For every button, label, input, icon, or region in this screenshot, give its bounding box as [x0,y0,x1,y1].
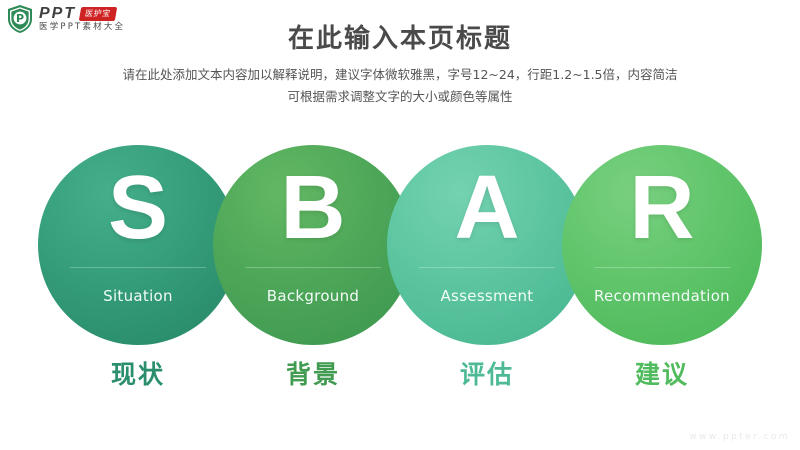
sbar-word-assessment: Assessment [441,287,534,305]
sbar-diagram: S Situation B Background A Assessment R … [0,145,800,347]
caption-assessment: 评估 [387,355,587,391]
sbar-letter-b: B [281,163,346,253]
circle-divider [245,267,381,268]
circle-divider [419,267,555,268]
circle-divider [70,267,206,268]
sbar-circle-assessment[interactable]: A Assessment [387,145,587,345]
sbar-circle-recommendation[interactable]: R Recommendation [562,145,762,345]
sbar-circle-background[interactable]: B Background [213,145,413,345]
sbar-letter-a: A [455,163,520,253]
sbar-word-recommendation: Recommendation [594,287,730,305]
caption-recommendation: 建议 [562,355,762,391]
sbar-letter-s: S [108,163,168,253]
sbar-word-situation: Situation [103,287,173,305]
circle-divider [594,267,730,268]
sbar-captions: 现状 背景 评估 建议 [0,355,800,395]
sbar-letter-r: R [630,163,695,253]
subtitle-line-1: 请在此处添加文本内容加以解释说明，建议字体微软雅黑，字号12~24，行距1.2~… [0,64,800,86]
subtitle-line-2: 可根据需求调整文字的大小或颜色等属性 [0,86,800,108]
caption-background: 背景 [213,355,413,391]
sbar-word-background: Background [267,287,360,305]
sbar-circle-situation[interactable]: S Situation [38,145,238,345]
page-subtitle: 请在此处添加文本内容加以解释说明，建议字体微软雅黑，字号12~24，行距1.2~… [0,64,800,108]
footer-watermark: www.ppter.com [689,432,790,442]
page-title: 在此输入本页标题 [0,18,800,55]
caption-situation: 现状 [38,355,238,391]
